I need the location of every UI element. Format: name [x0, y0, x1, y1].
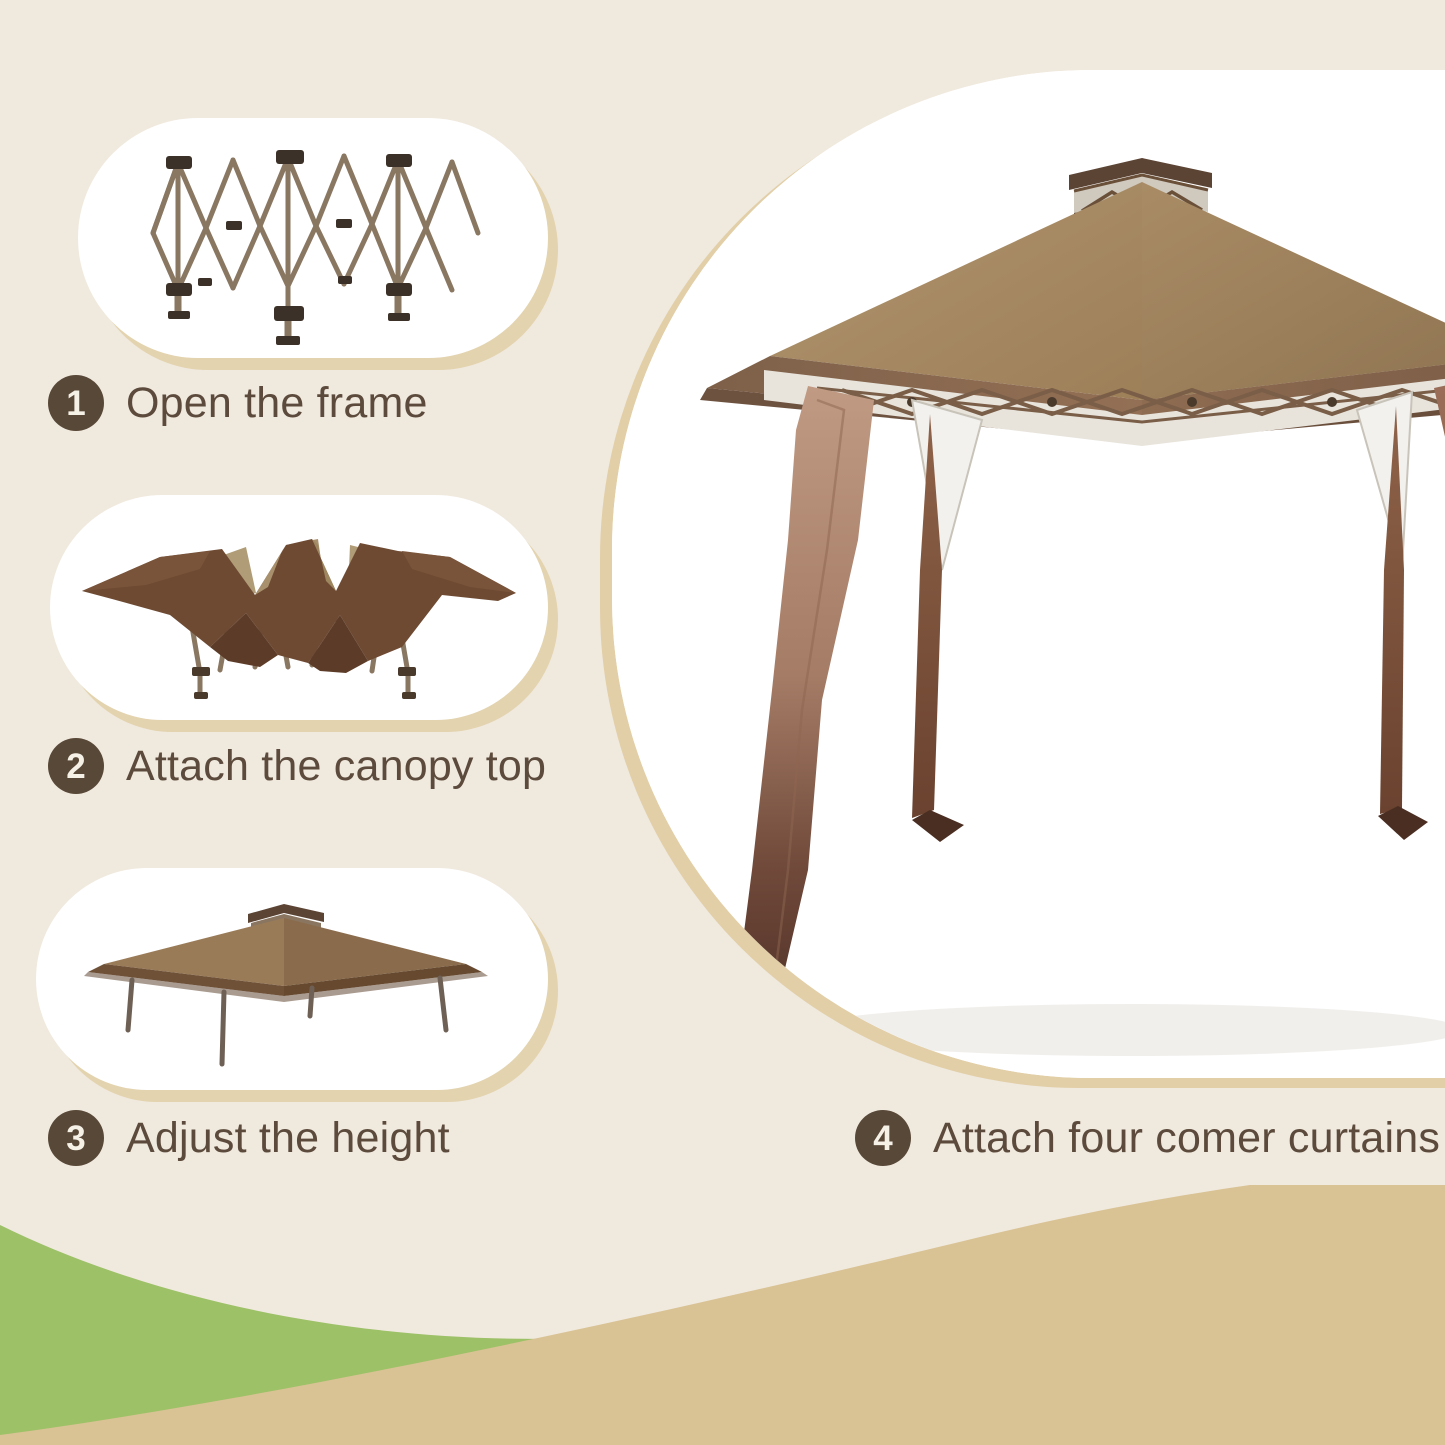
step-2-badge: 2	[48, 738, 104, 794]
infographic-root: 1 Open the frame 2 Attach the canopy top…	[0, 0, 1445, 1445]
step-2-caption: 2 Attach the canopy top	[48, 738, 546, 794]
step-3-caption: 3 Adjust the height	[48, 1110, 450, 1166]
step-1-badge: 1	[48, 375, 104, 431]
step-2-label: Attach the canopy top	[126, 742, 546, 791]
assembled-gazebo-low-angle	[36, 868, 548, 1090]
step-4-label: Attach four comer curtains	[933, 1114, 1440, 1163]
step-3-label: Adjust the height	[126, 1114, 450, 1163]
step-3-thumbnail-card	[36, 868, 548, 1090]
step-2-thumbnail-card	[50, 495, 548, 720]
hero-panel	[612, 70, 1445, 1078]
step-1-label: Open the frame	[126, 379, 428, 428]
collapsed-scissor-frame	[78, 118, 548, 358]
step-3-badge: 3	[48, 1110, 104, 1166]
step-1-thumbnail-card	[78, 118, 548, 358]
step-4-caption: 4 Attach four comer curtains	[855, 1110, 1440, 1166]
canopy-draped-on-frame	[50, 495, 548, 720]
bottom-decorative-waves	[0, 1185, 1445, 1445]
gazebo-hero-photo	[612, 70, 1445, 1078]
step-4-badge: 4	[855, 1110, 911, 1166]
step-1-caption: 1 Open the frame	[48, 375, 428, 431]
